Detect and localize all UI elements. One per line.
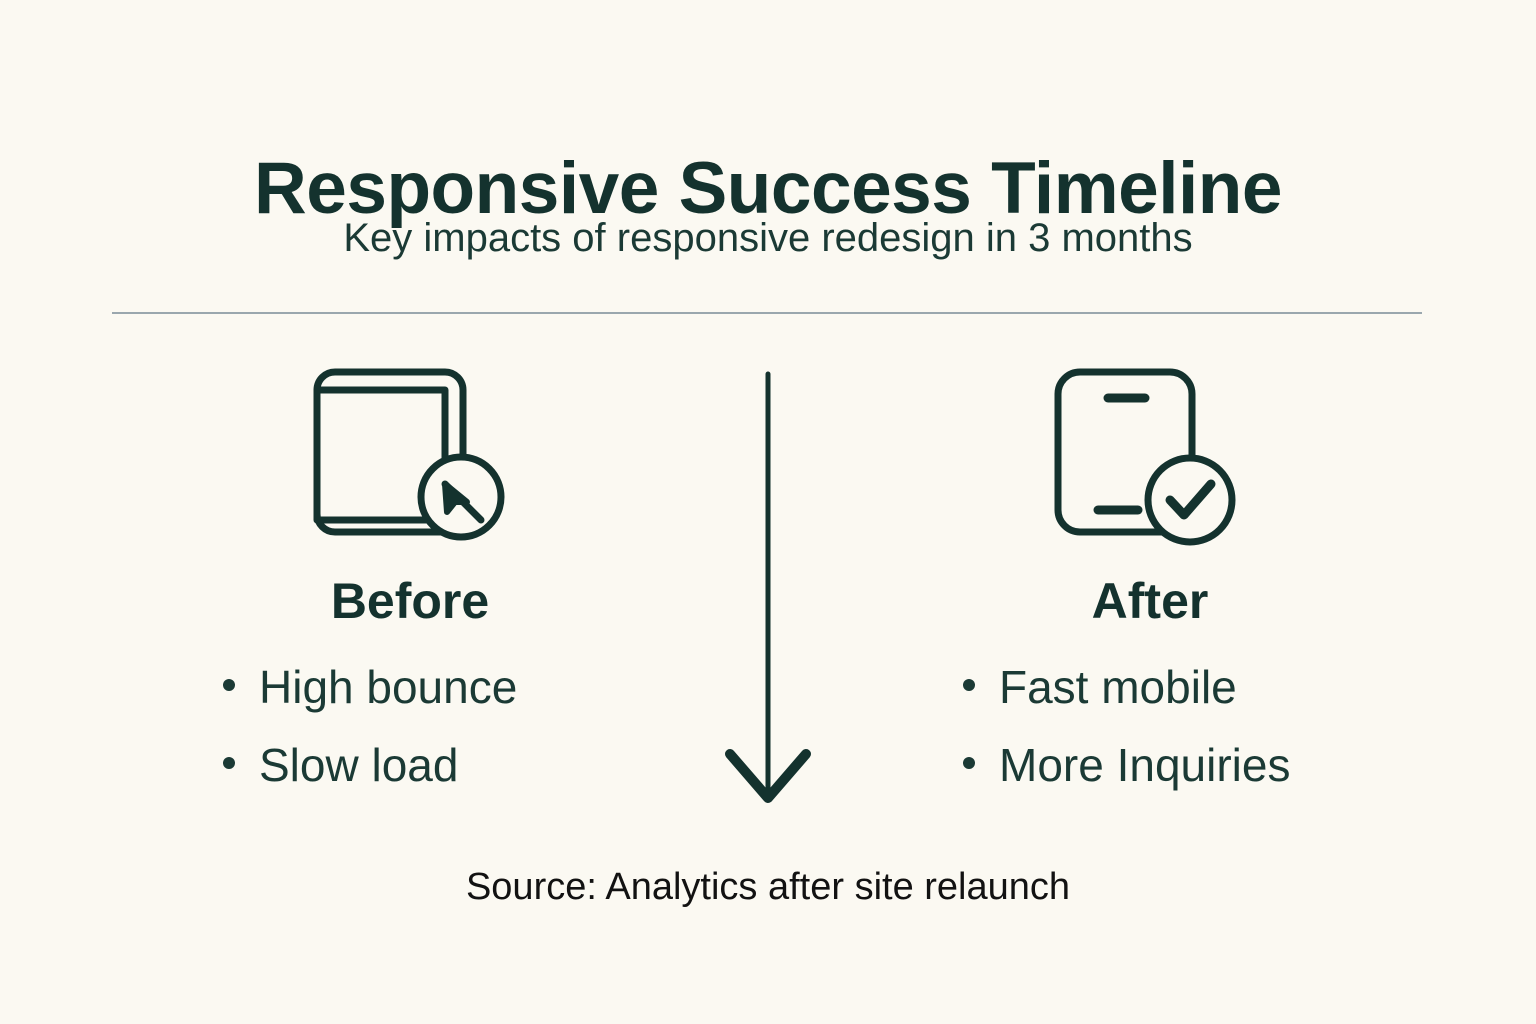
header-divider	[112, 312, 1422, 314]
bullet-dot-icon	[223, 679, 235, 691]
list-item: More Inquiries	[850, 742, 1450, 788]
down-arrow-icon	[708, 370, 828, 815]
bullet-dot-icon	[963, 757, 975, 769]
column-heading-after: After	[850, 576, 1450, 626]
page-title: Responsive Success Timeline	[0, 152, 1536, 225]
bullet-label: Fast mobile	[999, 664, 1237, 710]
bullet-dot-icon	[963, 679, 975, 691]
bullet-dot-icon	[223, 757, 235, 769]
column-after: After Fast mobile More Inquiries	[850, 360, 1450, 820]
list-item: Slow load	[110, 742, 710, 788]
column-heading-before: Before	[110, 576, 710, 626]
list-item: Fast mobile	[850, 664, 1450, 710]
source-caption: Source: Analytics after site relaunch	[0, 868, 1536, 906]
bullet-label: More Inquiries	[999, 742, 1290, 788]
infographic-canvas: Responsive Success Timeline Key impacts …	[0, 0, 1536, 1024]
bullet-label: Slow load	[259, 742, 458, 788]
bullet-list-after: Fast mobile More Inquiries	[850, 664, 1450, 788]
column-before: Before High bounce Slow load	[110, 360, 710, 820]
page-subtitle: Key impacts of responsive redesign in 3 …	[0, 218, 1536, 258]
bullet-label: High bounce	[259, 664, 517, 710]
list-item: High bounce	[110, 664, 710, 710]
bullet-list-before: High bounce Slow load	[110, 664, 710, 788]
tablet-cursor-icon	[110, 360, 710, 550]
mobile-check-icon	[850, 360, 1450, 550]
